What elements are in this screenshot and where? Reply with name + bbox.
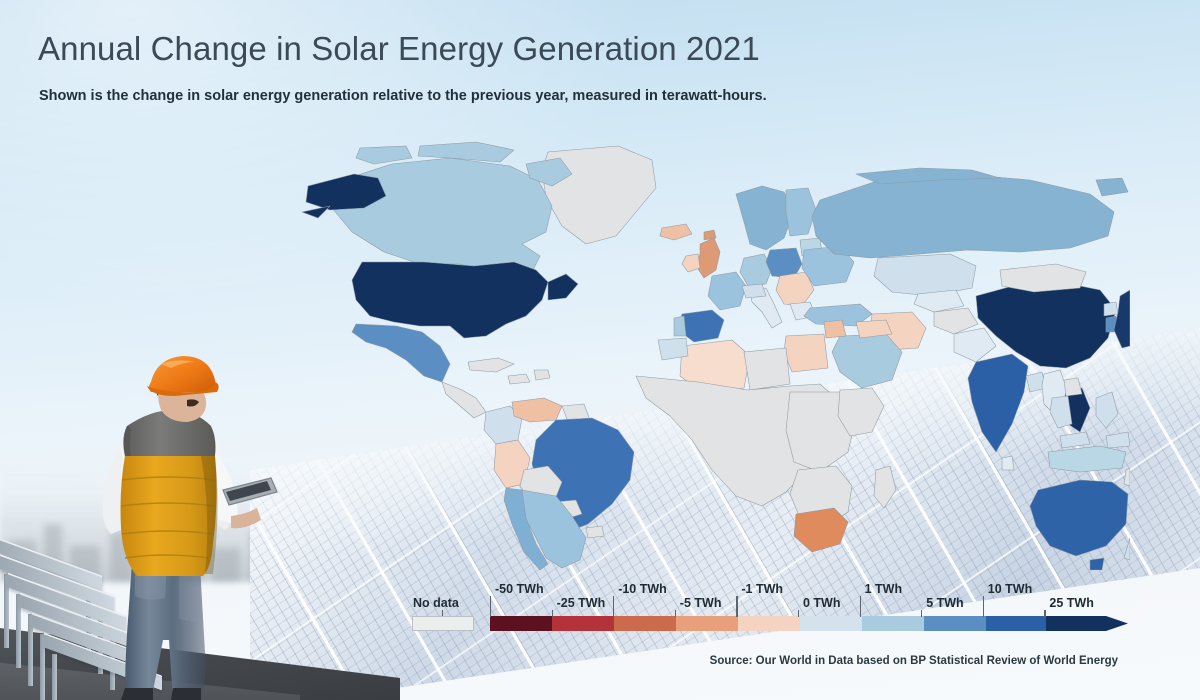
country-mongolia [1000, 264, 1086, 292]
country-japan [1114, 290, 1130, 348]
legend-tick [552, 610, 553, 617]
page-subtitle: Shown is the change in solar energy gene… [39, 88, 767, 104]
region-caribbean [468, 358, 514, 372]
legend-tick [613, 596, 614, 617]
legend-tick-label: 1 TWh [865, 582, 903, 596]
country-north-korea [1104, 302, 1118, 316]
legend-tick-label: 5 TWh [926, 596, 964, 610]
legend-tick [1044, 610, 1045, 617]
legend-segment-7 [924, 616, 986, 631]
region-scandinavia [736, 186, 794, 250]
country-philippines [1096, 392, 1118, 428]
country-saudi-arabia [832, 334, 902, 388]
legend-tick [798, 610, 799, 617]
legend-tick-label: 10 TWh [988, 582, 1032, 596]
region-alpine [742, 284, 766, 298]
country-indonesia [1048, 446, 1126, 472]
region-central-asia [874, 254, 976, 296]
legend-arrow-tip [1106, 616, 1128, 631]
legend-segment-2 [614, 616, 676, 631]
country-ireland [682, 254, 700, 272]
legend-segment-1 [552, 616, 614, 631]
legend-segment-5 [800, 616, 862, 631]
legend-tick [736, 596, 737, 617]
legend-no-data-label: No data [413, 596, 459, 610]
legend-tick-label: -50 TWh [495, 582, 544, 596]
legend-segment-6 [862, 616, 924, 631]
legend-tick-label: -10 TWh [618, 582, 667, 596]
legend-tick-label: 0 TWh [803, 596, 841, 610]
country-afghanistan [934, 308, 978, 334]
country-papua-new-guinea [1124, 468, 1130, 486]
legend-tick-label: -25 TWh [557, 596, 606, 610]
country-thailand [1050, 396, 1072, 428]
legend-segment-4 [738, 616, 800, 631]
legend-segment-0 [490, 616, 552, 631]
country-libya [744, 348, 790, 390]
country-tasmania [1090, 558, 1104, 570]
legend-tick-label: 25 TWh [1049, 596, 1093, 610]
country-iceland [660, 224, 692, 240]
infographic-canvas: Annual Change in Solar Energy Generation… [0, 0, 1200, 700]
legend-segment-8 [986, 616, 1046, 631]
country-south-africa [794, 508, 848, 552]
legend-tick [860, 596, 861, 617]
legend-tick-label: -5 TWh [680, 596, 722, 610]
country-new-zealand [1124, 538, 1130, 560]
country-finland [786, 188, 816, 236]
region-central-america [442, 382, 486, 418]
region-levant [824, 320, 846, 338]
legend-tick-label: -1 TWh [741, 582, 783, 596]
country-australia [1030, 480, 1128, 556]
country-sri-lanka [1002, 456, 1014, 470]
country-egypt [784, 334, 828, 372]
source-credit: Source: Our World in Data based on BP St… [710, 655, 1118, 667]
legend-tick [675, 610, 676, 617]
legend-segment-3 [676, 616, 738, 631]
legend-tick [490, 596, 491, 617]
map-countries [302, 142, 1130, 570]
country-madagascar [874, 466, 896, 508]
worker-photo-figure [95, 352, 285, 700]
country-laos [1064, 378, 1082, 396]
country-united-kingdom [696, 238, 720, 278]
country-india [968, 354, 1028, 452]
legend-tick [983, 596, 984, 617]
country-morocco [658, 338, 688, 360]
country-france [708, 272, 746, 310]
country-china [976, 282, 1116, 368]
legend-tick [921, 610, 922, 617]
legend-segment-9 [1046, 616, 1106, 631]
country-portugal [674, 316, 686, 336]
country-canada-islands [418, 142, 514, 162]
page-title: Annual Change in Solar Energy Generation… [38, 30, 760, 68]
country-malaysia [1060, 432, 1090, 448]
legend-color-bar[interactable] [490, 616, 1106, 631]
world-choropleth-map [300, 140, 1130, 570]
country-pakistan [954, 328, 996, 362]
legend-no-data-swatch[interactable] [412, 616, 474, 631]
map-legend: No data -50 TWh-25 TWh-10 TWh-5 TWh-1 TW… [412, 584, 1124, 634]
country-mexico [352, 324, 450, 382]
country-russia [812, 174, 1114, 258]
